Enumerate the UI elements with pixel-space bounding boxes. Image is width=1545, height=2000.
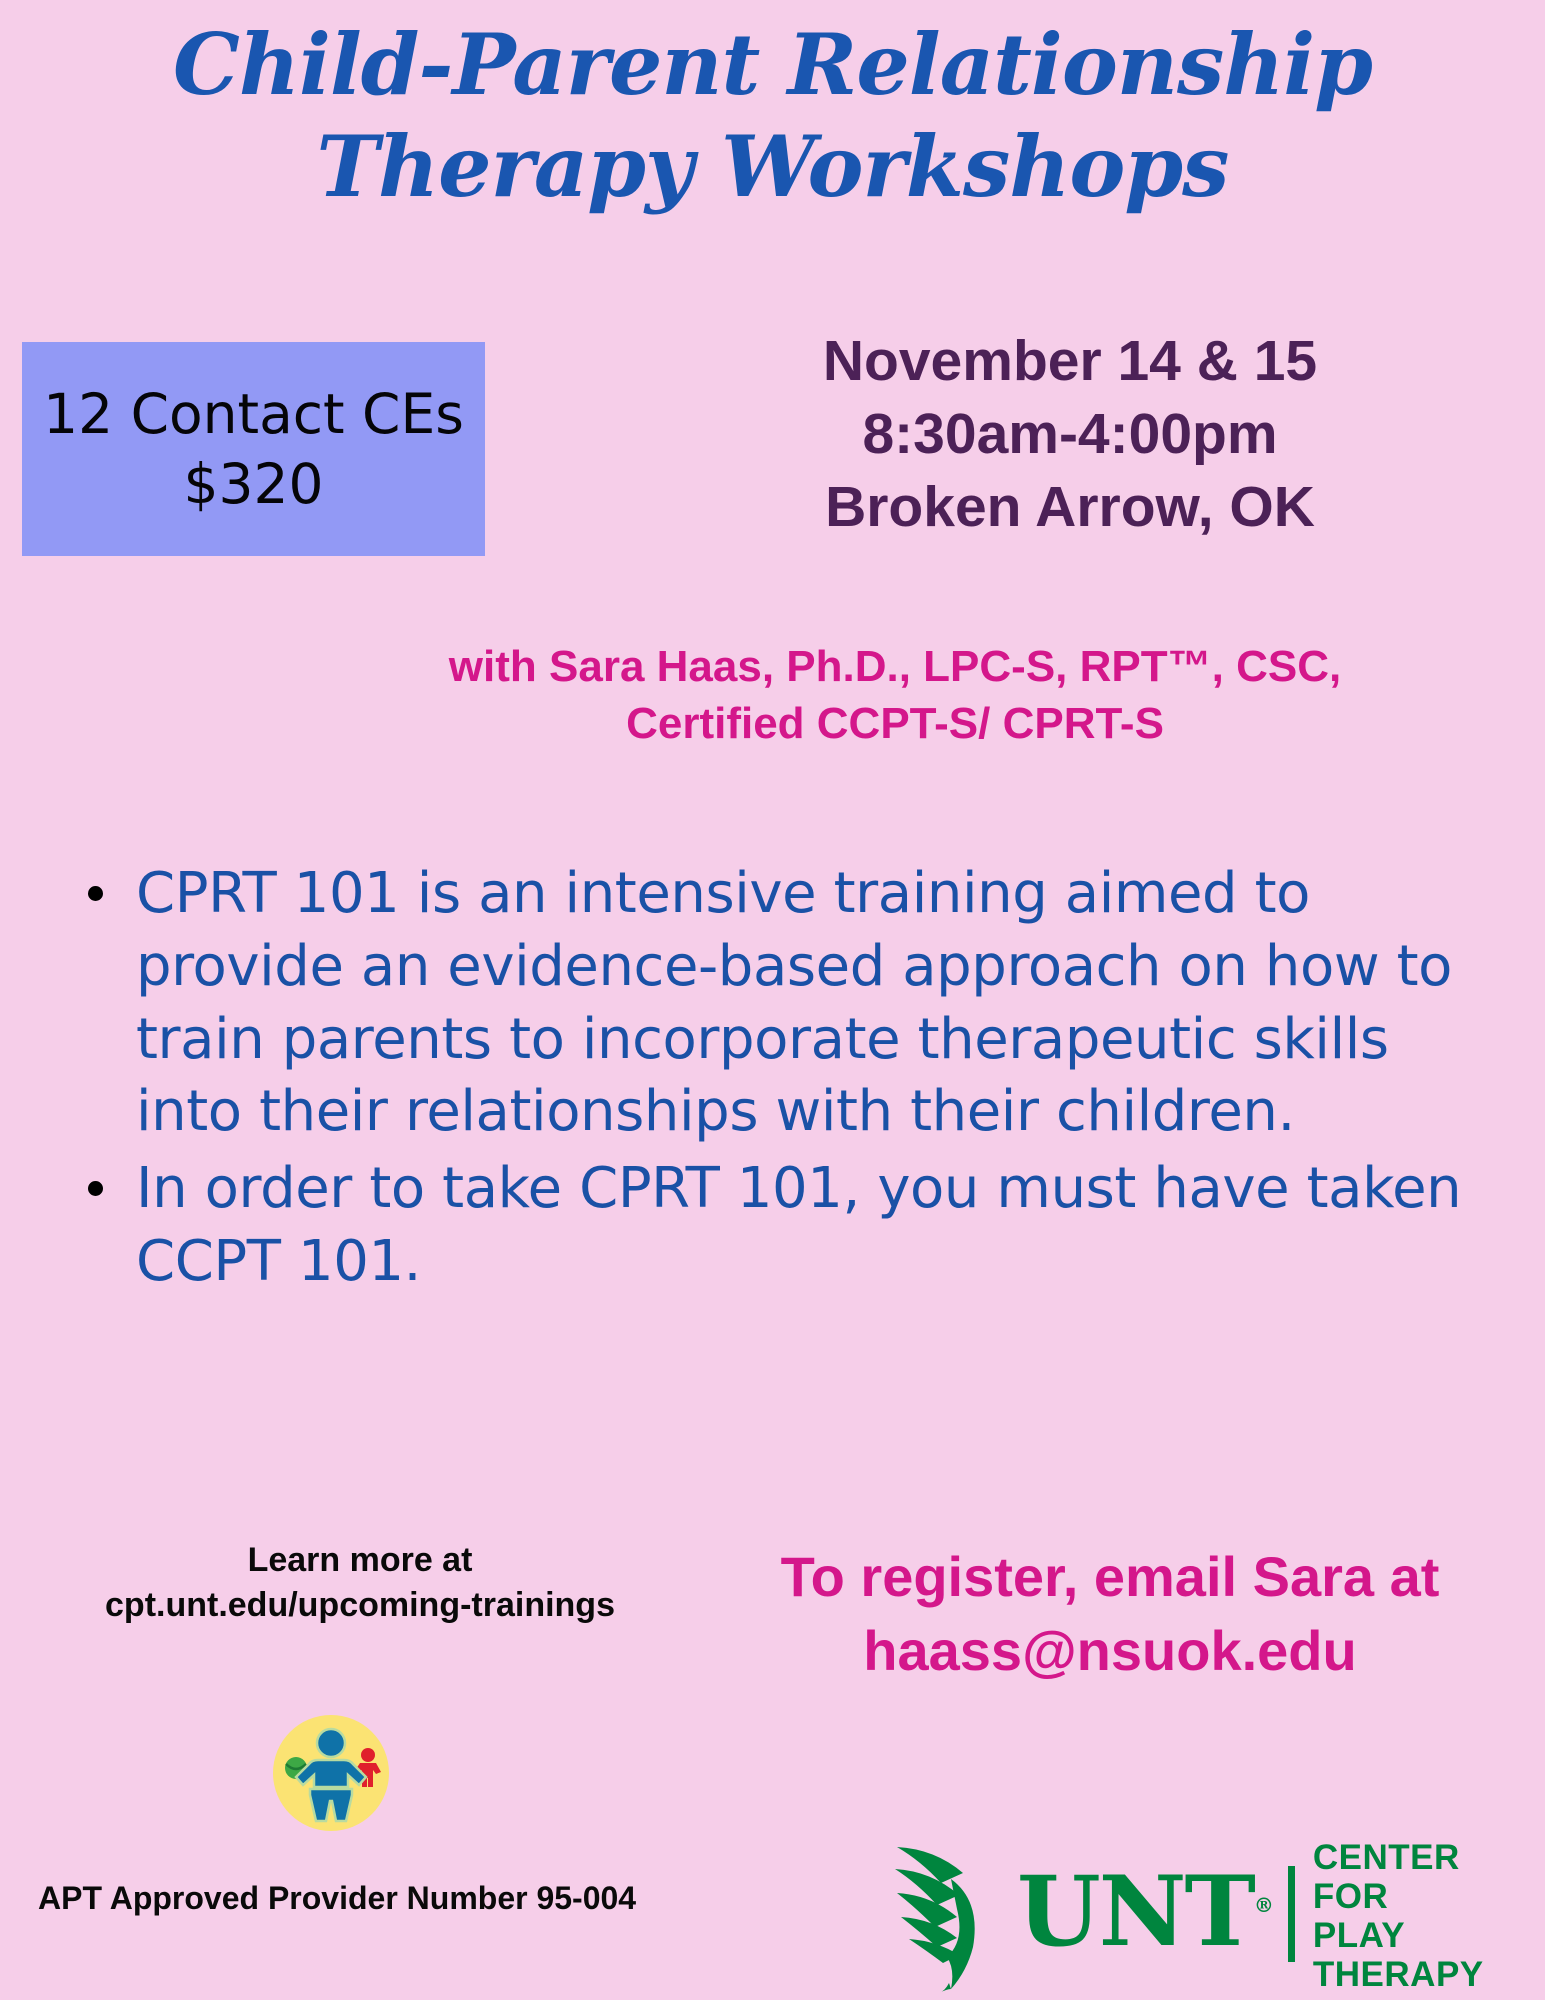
ce-price: $320 <box>184 449 324 519</box>
ce-credit-badge: 12 Contact CEs $320 <box>22 342 485 556</box>
list-item: In order to take CPRT 101, you must have… <box>80 1153 1500 1299</box>
list-item: CPRT 101 is an intensive training aimed … <box>80 858 1500 1149</box>
learn-more-url[interactable]: cpt.unt.edu/upcoming-trainings <box>30 1583 690 1628</box>
page-title-line-1: Child-Parent Relationship <box>0 14 1545 116</box>
unt-sublogo: CENTER FOR PLAY THERAPY <box>1313 1838 1535 1995</box>
event-location: Broken Arrow, OK <box>760 471 1380 544</box>
apt-play-therapy-logo-icon <box>270 1712 392 1834</box>
event-date: November 14 & 15 <box>760 325 1380 398</box>
ce-contact-hours: 12 Contact CEs <box>43 379 464 449</box>
learn-more-block: Learn more at cpt.unt.edu/upcoming-train… <box>30 1538 690 1628</box>
bullet-dot-icon <box>88 1181 103 1196</box>
page-title-line-2: Therapy Workshops <box>0 116 1545 218</box>
flyer-canvas: Child-Parent Relationship Therapy Worksh… <box>0 0 1545 2000</box>
list-item-text: CPRT 101 is an intensive training aimed … <box>136 861 1452 1144</box>
bullet-dot-icon <box>88 886 103 901</box>
presenter-credentials: with Sara Haas, Ph.D., LPC-S, RPT™, CSC,… <box>330 638 1460 752</box>
logo-divider <box>1288 1866 1295 1962</box>
unt-sublogo-line-1: CENTER FOR <box>1313 1838 1535 1916</box>
description-bullet-list: CPRT 101 is an intensive training aimed … <box>80 858 1500 1303</box>
presenter-line-1: with Sara Haas, Ph.D., LPC-S, RPT™, CSC, <box>330 638 1460 695</box>
apt-approved-provider-number: APT Approved Provider Number 95-004 <box>38 1880 636 1917</box>
page-title: Child-Parent Relationship Therapy Worksh… <box>0 14 1545 219</box>
unt-center-for-play-therapy-logo: UNT® CENTER FOR PLAY THERAPY <box>895 1838 1535 1998</box>
event-details: November 14 & 15 8:30am-4:00pm Broken Ar… <box>760 325 1380 544</box>
presenter-line-2: Certified CCPT-S/ CPRT-S <box>330 695 1460 752</box>
unt-sublogo-line-2: PLAY THERAPY <box>1313 1916 1535 1994</box>
register-block: To register, email Sara at haass@nsuok.e… <box>700 1540 1520 1688</box>
registered-trademark-icon: ® <box>1254 1893 1274 1917</box>
unt-wordmark-text: UNT <box>1017 1855 1254 1968</box>
register-email[interactable]: haass@nsuok.edu <box>700 1614 1520 1688</box>
event-time: 8:30am-4:00pm <box>760 398 1380 471</box>
list-item-text: In order to take CPRT 101, you must have… <box>136 1156 1461 1294</box>
register-label: To register, email Sara at <box>700 1540 1520 1614</box>
learn-more-label: Learn more at <box>30 1538 690 1583</box>
unt-eagle-icon <box>895 1843 1023 1993</box>
unt-wordmark: UNT® <box>1017 1869 1274 1955</box>
